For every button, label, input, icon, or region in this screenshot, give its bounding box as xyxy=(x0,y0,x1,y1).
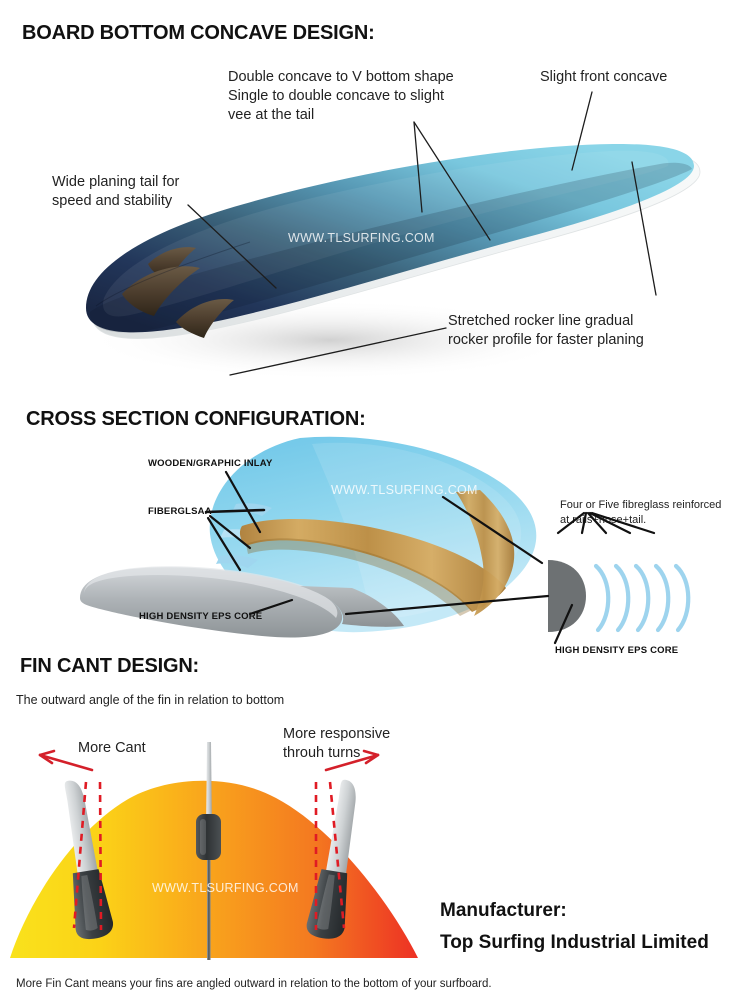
manufacturer-name: Top Surfing Industrial Limited xyxy=(440,932,709,954)
manufacturer-label: Manufacturer: xyxy=(440,900,567,922)
fin-cant-caption: More Fin Cant means your fins are angled… xyxy=(16,978,492,990)
leader-core-to-detail xyxy=(346,596,548,614)
leader-fan-rail-reinforce xyxy=(558,513,654,533)
fin-cant-illustration xyxy=(0,720,460,975)
leader-wide-planing-tail xyxy=(188,205,276,288)
leader-double-concave-a xyxy=(414,122,422,212)
section-heading-fin-cant: FIN CANT DESIGN: xyxy=(20,655,199,678)
leader-stretched-rocker xyxy=(230,328,446,375)
fin-center-plug-highlight xyxy=(200,819,206,855)
leader-fiberglass-bar xyxy=(206,510,264,512)
leader-slight-front-concave xyxy=(572,92,592,170)
fin-cant-subtitle: The outward angle of the fin in relation… xyxy=(16,693,284,707)
leader-lines-section-2 xyxy=(0,400,750,670)
fin-right-arrow xyxy=(326,751,378,770)
fin-center-plug xyxy=(196,814,221,860)
infographic-page: BOARD BOTTOM CONCAVE DESIGN: xyxy=(0,0,750,1000)
leader-eps-core-left-line xyxy=(250,600,292,614)
leader-eps-core-right xyxy=(555,605,572,643)
leader-shell-to-detail xyxy=(443,497,542,563)
leader-rocker-right xyxy=(632,162,656,295)
leader-double-concave-b xyxy=(414,122,490,240)
leader-lines-section-1 xyxy=(0,0,750,400)
leader-wooden-inlay xyxy=(226,472,260,532)
fin-left-arrow xyxy=(40,751,92,770)
